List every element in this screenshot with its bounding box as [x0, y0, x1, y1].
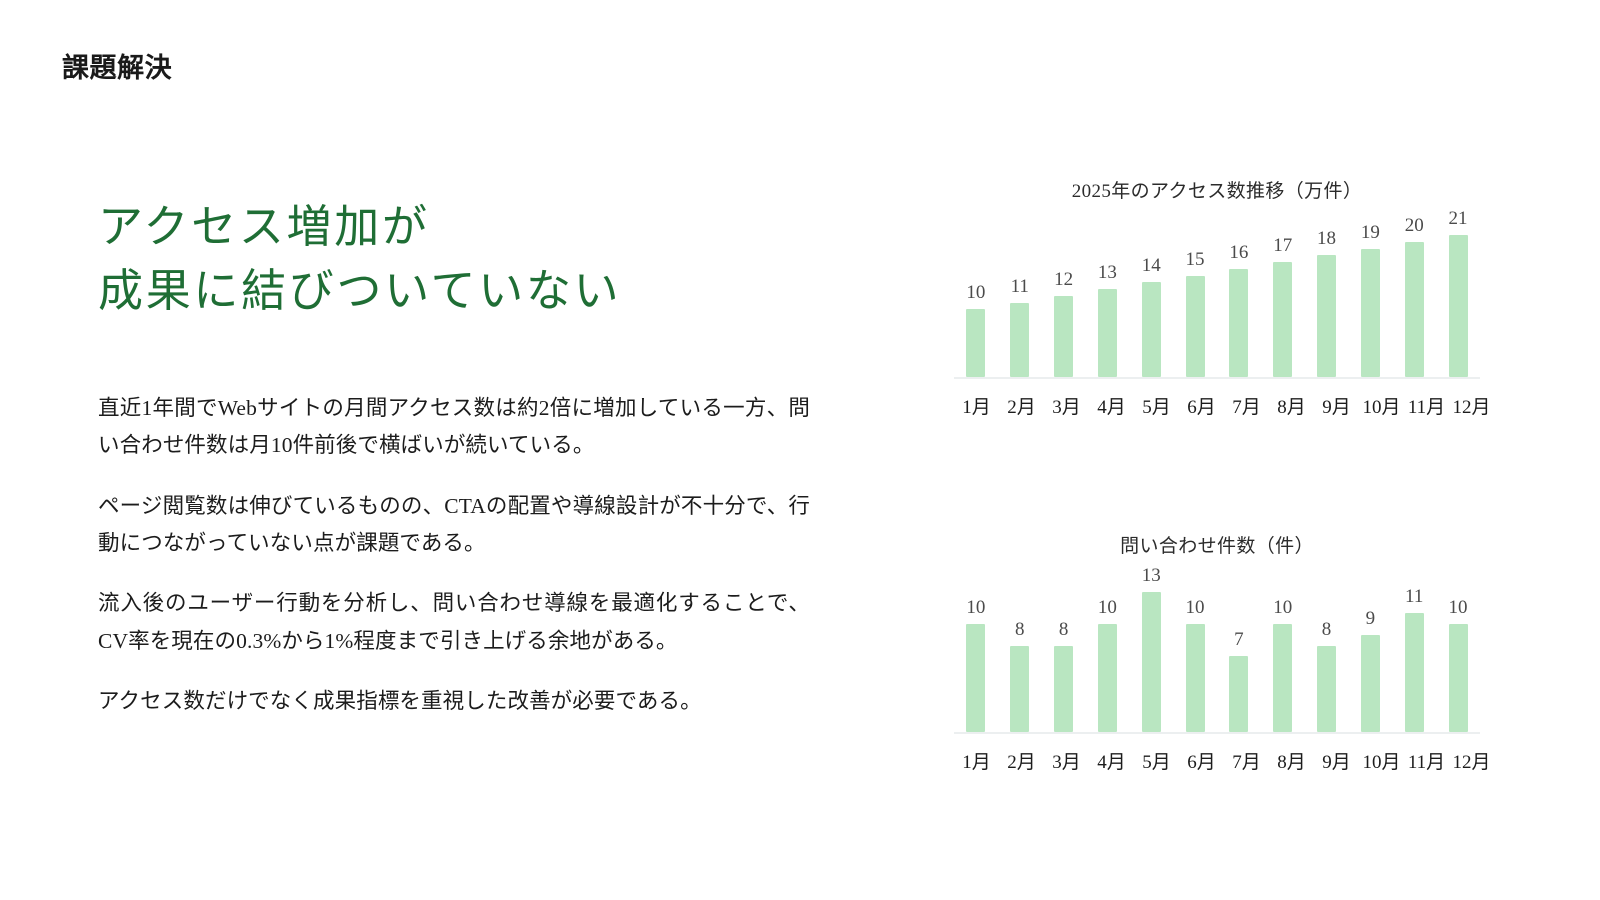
bar-cell: 17 — [1261, 215, 1305, 377]
bar — [1317, 646, 1336, 732]
bar-value-label: 10 — [966, 283, 985, 302]
bar — [1405, 242, 1424, 377]
body-text-block: 直近1年間でWebサイトの月間アクセス数は約2倍に増加している一方、問い合わせ件… — [98, 390, 810, 721]
chart-title: 問い合わせ件数（件） — [940, 531, 1480, 558]
bar-value-label: 13 — [1142, 566, 1161, 585]
x-axis-tick-label: 4月 — [1089, 747, 1134, 774]
bar-value-label: 11 — [1405, 587, 1423, 606]
headline: アクセス増加が 成果に結びついていない — [98, 196, 810, 324]
chart-title: 2025年のアクセス数推移（万件） — [940, 176, 1480, 203]
bar-value-label: 11 — [1011, 277, 1029, 296]
bar-cell: 9 — [1348, 570, 1392, 732]
x-axis-tick-label: 7月 — [1224, 747, 1269, 774]
x-axis-tick-label: 1月 — [954, 747, 999, 774]
bar-cell: 10 — [1436, 570, 1480, 732]
bar-cell: 21 — [1436, 215, 1480, 377]
bar-cell: 11 — [1392, 570, 1436, 732]
x-axis-tick-label: 10月 — [1359, 392, 1404, 419]
headline-line-1: アクセス増加が — [98, 196, 810, 260]
bar-cell: 8 — [1305, 570, 1349, 732]
x-axis-tick-label: 9月 — [1314, 747, 1359, 774]
x-axis-tick-label: 11月 — [1404, 392, 1449, 419]
bar-cell: 8 — [1042, 570, 1086, 732]
x-axis-tick-label: 1月 — [954, 392, 999, 419]
headline-line-2: 成果に結びついていない — [98, 260, 810, 324]
chart-plot-area: 1088101310710891110 — [954, 570, 1480, 734]
x-axis-tick-label: 4月 — [1089, 392, 1134, 419]
bar-series: 101112131415161718192021 — [954, 215, 1480, 377]
bar — [1054, 646, 1073, 732]
bar-cell: 8 — [998, 570, 1042, 732]
bar — [1142, 592, 1161, 732]
bar-value-label: 10 — [1449, 598, 1468, 617]
x-axis-tick-label: 11月 — [1404, 747, 1449, 774]
bar-cell: 19 — [1348, 215, 1392, 377]
x-axis-tick-label: 3月 — [1044, 392, 1089, 419]
x-axis-tick-label: 12月 — [1449, 392, 1494, 419]
body-paragraph: 流入後のユーザー行動を分析し、問い合わせ導線を最適化することで、CV率を現在の0… — [98, 585, 810, 660]
bar-cell: 18 — [1305, 215, 1349, 377]
bar-value-label: 21 — [1449, 209, 1468, 228]
bar — [1361, 635, 1380, 732]
bar-cell: 10 — [1173, 570, 1217, 732]
bar — [1273, 262, 1292, 377]
bar-cell: 12 — [1042, 215, 1086, 377]
slide-canvas: 課題解決 アクセス増加が 成果に結びついていない 直近1年間でWebサイトの月間… — [0, 0, 1600, 900]
page-title: 課題解決 — [62, 46, 172, 85]
bar-series: 1088101310710891110 — [954, 570, 1480, 732]
x-axis-tick-label: 10月 — [1359, 747, 1404, 774]
bar-cell: 13 — [1085, 215, 1129, 377]
x-axis-tick-label: 2月 — [999, 392, 1044, 419]
bar-value-label: 9 — [1366, 609, 1376, 628]
chart-plot-area: 101112131415161718192021 — [954, 215, 1480, 379]
bar-value-label: 19 — [1361, 223, 1380, 242]
body-paragraph: 直近1年間でWebサイトの月間アクセス数は約2倍に増加している一方、問い合わせ件… — [98, 390, 810, 465]
bar-value-label: 10 — [1186, 598, 1205, 617]
bar — [1010, 646, 1029, 732]
bar-value-label: 8 — [1322, 620, 1332, 639]
bar-value-label: 15 — [1186, 250, 1205, 269]
x-axis-tick-label: 7月 — [1224, 392, 1269, 419]
x-axis-tick-label: 2月 — [999, 747, 1044, 774]
bar — [1449, 624, 1468, 732]
chart-inquiry-count: 問い合わせ件数（件） 1088101310710891110 1月2月3月4月5… — [940, 531, 1480, 774]
bar — [1317, 255, 1336, 377]
bar-cell: 14 — [1129, 215, 1173, 377]
bar-value-label: 7 — [1234, 630, 1244, 649]
bar-cell: 16 — [1217, 215, 1261, 377]
bar — [966, 309, 985, 377]
bar — [966, 624, 985, 732]
bar-cell: 13 — [1129, 570, 1173, 732]
x-axis-tick-label: 8月 — [1269, 747, 1314, 774]
bar — [1142, 282, 1161, 377]
bar-value-label: 14 — [1142, 256, 1161, 275]
bar-cell: 7 — [1217, 570, 1261, 732]
bar — [1098, 624, 1117, 732]
bar — [1273, 624, 1292, 732]
bar — [1449, 235, 1468, 377]
bar-value-label: 17 — [1273, 236, 1292, 255]
bar-value-label: 18 — [1317, 229, 1336, 248]
x-axis-tick-label: 5月 — [1134, 392, 1179, 419]
bar — [1361, 249, 1380, 377]
body-paragraph: ページ閲覧数は伸びているものの、CTAの配置や導線設計が不十分で、行動につながっ… — [98, 488, 810, 563]
x-axis-tick-labels: 1月2月3月4月5月6月7月8月9月10月11月12月 — [954, 734, 1494, 774]
bar-value-label: 8 — [1059, 620, 1069, 639]
bar-value-label: 13 — [1098, 263, 1117, 282]
x-axis-tick-label: 8月 — [1269, 392, 1314, 419]
bar-cell: 10 — [954, 570, 998, 732]
bar — [1010, 303, 1029, 377]
body-paragraph: アクセス数だけでなく成果指標を重視した改善が必要である。 — [98, 683, 810, 720]
bar — [1186, 276, 1205, 377]
chart-access-trend: 2025年のアクセス数推移（万件） 1011121314151617181920… — [940, 176, 1480, 419]
bar — [1229, 269, 1248, 377]
bar-value-label: 20 — [1405, 216, 1424, 235]
x-axis-tick-label: 9月 — [1314, 392, 1359, 419]
bar — [1229, 656, 1248, 732]
bar-value-label: 10 — [966, 598, 985, 617]
bar-cell: 15 — [1173, 215, 1217, 377]
x-axis-tick-label: 12月 — [1449, 747, 1494, 774]
bar — [1054, 296, 1073, 377]
x-axis-tick-label: 3月 — [1044, 747, 1089, 774]
bar — [1186, 624, 1205, 732]
bar-value-label: 12 — [1054, 270, 1073, 289]
bar-cell: 11 — [998, 215, 1042, 377]
bar-cell: 10 — [954, 215, 998, 377]
x-axis-tick-labels: 1月2月3月4月5月6月7月8月9月10月11月12月 — [954, 379, 1494, 419]
bar-cell: 10 — [1261, 570, 1305, 732]
bar-value-label: 10 — [1273, 598, 1292, 617]
bar-value-label: 10 — [1098, 598, 1117, 617]
x-axis-tick-label: 5月 — [1134, 747, 1179, 774]
bar — [1405, 613, 1424, 732]
bar-cell: 20 — [1392, 215, 1436, 377]
bar-value-label: 16 — [1229, 243, 1248, 262]
x-axis-tick-label: 6月 — [1179, 747, 1224, 774]
bar-cell: 10 — [1085, 570, 1129, 732]
x-axis-tick-label: 6月 — [1179, 392, 1224, 419]
bar-value-label: 8 — [1015, 620, 1025, 639]
bar — [1098, 289, 1117, 377]
left-content-column: アクセス増加が 成果に結びついていない 直近1年間でWebサイトの月間アクセス数… — [98, 196, 810, 721]
